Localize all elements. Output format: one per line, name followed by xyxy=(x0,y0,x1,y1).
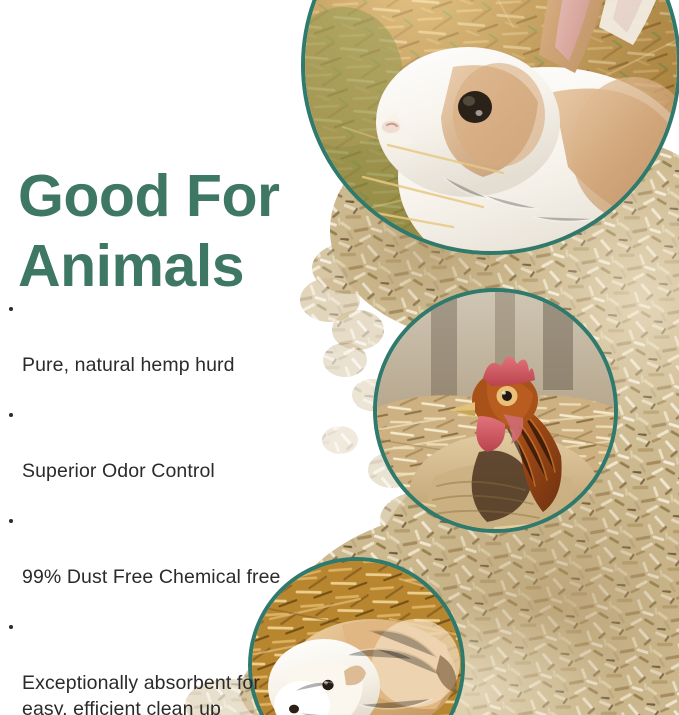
bullet-dot-icon xyxy=(9,625,13,629)
rabbit-photo-circle xyxy=(301,0,679,255)
list-item: Superior Odor Control xyxy=(8,406,348,484)
list-item-label: Superior Odor Control xyxy=(22,460,215,482)
list-item-label: Exceptionally absorbent for easy, effici… xyxy=(22,672,260,715)
chicken-photo-circle xyxy=(373,288,618,533)
rabbit-photo xyxy=(303,0,679,255)
list-item: 99% Dust Free Chemical free xyxy=(8,512,348,590)
bullet-dot-icon xyxy=(9,307,13,311)
bullet-dot-icon xyxy=(9,519,13,523)
chicken-photo xyxy=(375,290,618,533)
list-item-label: 99% Dust Free Chemical free xyxy=(22,566,280,588)
bullet-dot-icon xyxy=(9,413,13,417)
page-title: Good For Animals xyxy=(18,161,348,301)
list-item: Exceptionally absorbent for easy, effici… xyxy=(8,618,348,715)
product-feature-panel: Good For Animals Pure, natural hemp hurd… xyxy=(0,0,679,715)
list-item: Pure, natural hemp hurd xyxy=(8,300,348,378)
list-item-label: Pure, natural hemp hurd xyxy=(22,354,235,376)
feature-bullet-list: Pure, natural hemp hurd Superior Odor Co… xyxy=(8,300,348,715)
